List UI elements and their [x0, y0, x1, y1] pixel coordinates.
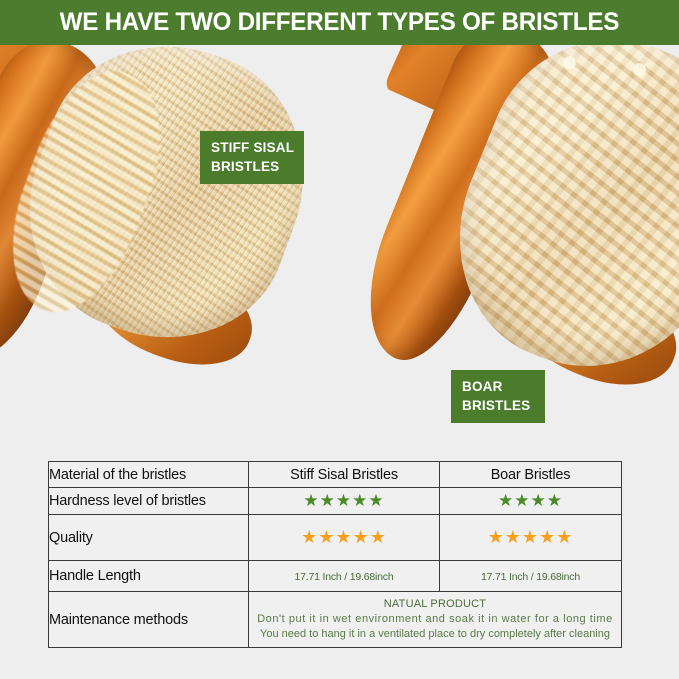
table-header-sisal: Stiff Sisal Bristles	[249, 462, 440, 488]
table-row-quality: Quality ★★★★★ ★★★★★	[49, 515, 622, 561]
row-label-maintenance: Maintenance methods	[49, 592, 249, 648]
badge-sisal-line2: BRISTLES	[211, 157, 293, 176]
quality-boar-cell: ★★★★★	[440, 515, 622, 561]
table-row-maintenance: Maintenance methods NATUAL PRODUCT Don't…	[49, 592, 622, 648]
hardness-sisal-stars: ★★★★★	[303, 492, 384, 509]
badge-boar-line2: BRISTLES	[462, 396, 534, 415]
table-header-boar: Boar Bristles	[440, 462, 622, 488]
maintenance-line-2: You need to hang it in a ventilated plac…	[249, 627, 621, 642]
header-banner: WE HAVE TWO DIFFERENT TYPES OF BRISTLES	[0, 0, 679, 45]
row-label-hardness: Hardness level of bristles	[49, 488, 249, 515]
comparison-table-wrapper: Material of the bristles Stiff Sisal Bri…	[48, 461, 621, 648]
maintenance-content-cell: NATUAL PRODUCT Don't put it in wet envir…	[249, 592, 622, 648]
handle-length-sisal-value: 17.71 Inch / 19.68inch	[295, 571, 394, 583]
table-header-row: Material of the bristles Stiff Sisal Bri…	[49, 462, 622, 488]
row-label-handle-length: Handle Length	[49, 561, 249, 592]
boar-bristle-brush-image	[390, 45, 679, 405]
stiff-sisal-brush-image	[0, 45, 340, 395]
badge-sisal-line1: STIFF SISAL	[211, 138, 293, 157]
handle-length-boar-value: 17.71 Inch / 19.68inch	[481, 571, 580, 583]
quality-sisal-stars: ★★★★★	[301, 528, 387, 546]
handle-length-boar-cell: 17.71 Inch / 19.68inch	[440, 561, 622, 592]
maintenance-title: NATUAL PRODUCT	[249, 598, 621, 610]
quality-sisal-cell: ★★★★★	[249, 515, 440, 561]
table-row-hardness: Hardness level of bristles ★★★★★ ★★★★	[49, 488, 622, 515]
badge-stiff-sisal-bristles: STIFF SISAL BRISTLES	[200, 131, 304, 184]
table-row-handle-length: Handle Length 17.71 Inch / 19.68inch 17.…	[49, 561, 622, 592]
quality-boar-stars: ★★★★★	[488, 528, 574, 546]
hardness-boar-cell: ★★★★	[440, 488, 622, 515]
badge-boar-bristles: BOAR BRISTLES	[451, 370, 545, 423]
product-photo-area: STIFF SISAL BRISTLES BOAR BRISTLES	[0, 45, 679, 445]
hardness-boar-stars: ★★★★	[498, 492, 563, 509]
page-title: WE HAVE TWO DIFFERENT TYPES OF BRISTLES	[60, 8, 619, 37]
maintenance-line-1: Don't put it in wet environment and soak…	[249, 612, 621, 627]
hardness-sisal-cell: ★★★★★	[249, 488, 440, 515]
table-header-material: Material of the bristles	[49, 462, 249, 488]
row-label-quality: Quality	[49, 515, 249, 561]
handle-length-sisal-cell: 17.71 Inch / 19.68inch	[249, 561, 440, 592]
badge-boar-line1: BOAR	[462, 377, 534, 396]
bristle-comparison-table: Material of the bristles Stiff Sisal Bri…	[48, 461, 622, 648]
